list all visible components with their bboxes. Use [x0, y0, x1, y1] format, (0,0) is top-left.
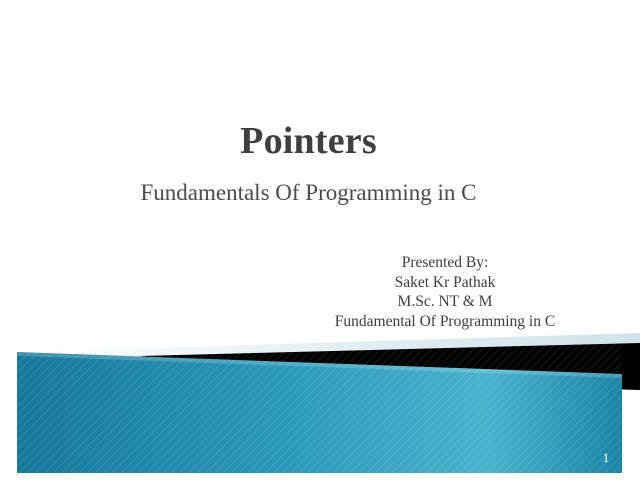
presenter-qualification: M.Sc. NT & M: [0, 292, 640, 312]
banner-texture: [0, 330, 640, 495]
page-title: Pointers: [0, 118, 617, 164]
slide-number: 1: [596, 450, 616, 466]
decorative-banner: [0, 330, 640, 495]
presented-by-label: Presented By:: [0, 253, 640, 273]
presenter-course: Fundamental Of Programming in C: [0, 312, 640, 332]
slide-subtitle: Fundamentals Of Programming in C: [0, 164, 617, 208]
presenter-block: Presented By: Saket Kr Pathak M.Sc. NT &…: [0, 253, 640, 331]
presenter-name: Saket Kr Pathak: [0, 273, 640, 293]
title-area: Pointers Fundamentals Of Programming in …: [0, 118, 617, 208]
presentation-slide: Pointers Fundamentals Of Programming in …: [0, 0, 640, 495]
